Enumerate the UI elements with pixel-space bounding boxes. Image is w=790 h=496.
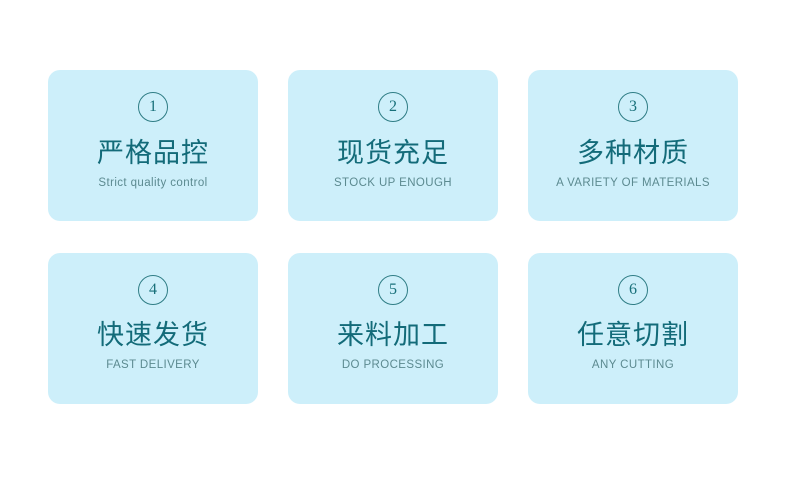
feature-card-5[interactable]: 5 来料加工 DO PROCESSING bbox=[288, 253, 498, 404]
badge-number-icon: 3 bbox=[618, 92, 648, 122]
feature-card-6[interactable]: 6 任意切割 ANY CUTTING bbox=[528, 253, 738, 404]
badge-number-icon: 1 bbox=[138, 92, 168, 122]
feature-title: 快速发货 bbox=[97, 322, 209, 350]
badge-number-icon: 5 bbox=[378, 275, 408, 305]
feature-title: 严格品控 bbox=[97, 140, 209, 168]
feature-card-2[interactable]: 2 现货充足 STOCK UP ENOUGH bbox=[288, 70, 498, 221]
feature-card-4[interactable]: 4 快速发货 FAST DELIVERY bbox=[48, 253, 258, 404]
feature-card-1[interactable]: 1 严格品控 Strict quality control bbox=[48, 70, 258, 221]
feature-title: 现货充足 bbox=[337, 140, 449, 168]
badge-number-icon: 6 bbox=[618, 275, 648, 305]
feature-subtitle: Strict quality control bbox=[98, 177, 207, 190]
feature-title: 多种材质 bbox=[577, 140, 689, 168]
feature-subtitle: STOCK UP ENOUGH bbox=[334, 177, 452, 190]
feature-title: 任意切割 bbox=[577, 322, 689, 350]
feature-subtitle: FAST DELIVERY bbox=[106, 359, 200, 372]
feature-subtitle: DO PROCESSING bbox=[342, 359, 444, 372]
feature-card-3[interactable]: 3 多种材质 A VARIETY OF MATERIALS bbox=[528, 70, 738, 221]
feature-card-grid: 1 严格品控 Strict quality control 2 现货充足 STO… bbox=[48, 70, 738, 404]
feature-subtitle: ANY CUTTING bbox=[592, 359, 674, 372]
page-root: 1 严格品控 Strict quality control 2 现货充足 STO… bbox=[0, 0, 790, 496]
feature-subtitle: A VARIETY OF MATERIALS bbox=[556, 177, 710, 190]
feature-title: 来料加工 bbox=[337, 322, 449, 350]
badge-number-icon: 2 bbox=[378, 92, 408, 122]
badge-number-icon: 4 bbox=[138, 275, 168, 305]
